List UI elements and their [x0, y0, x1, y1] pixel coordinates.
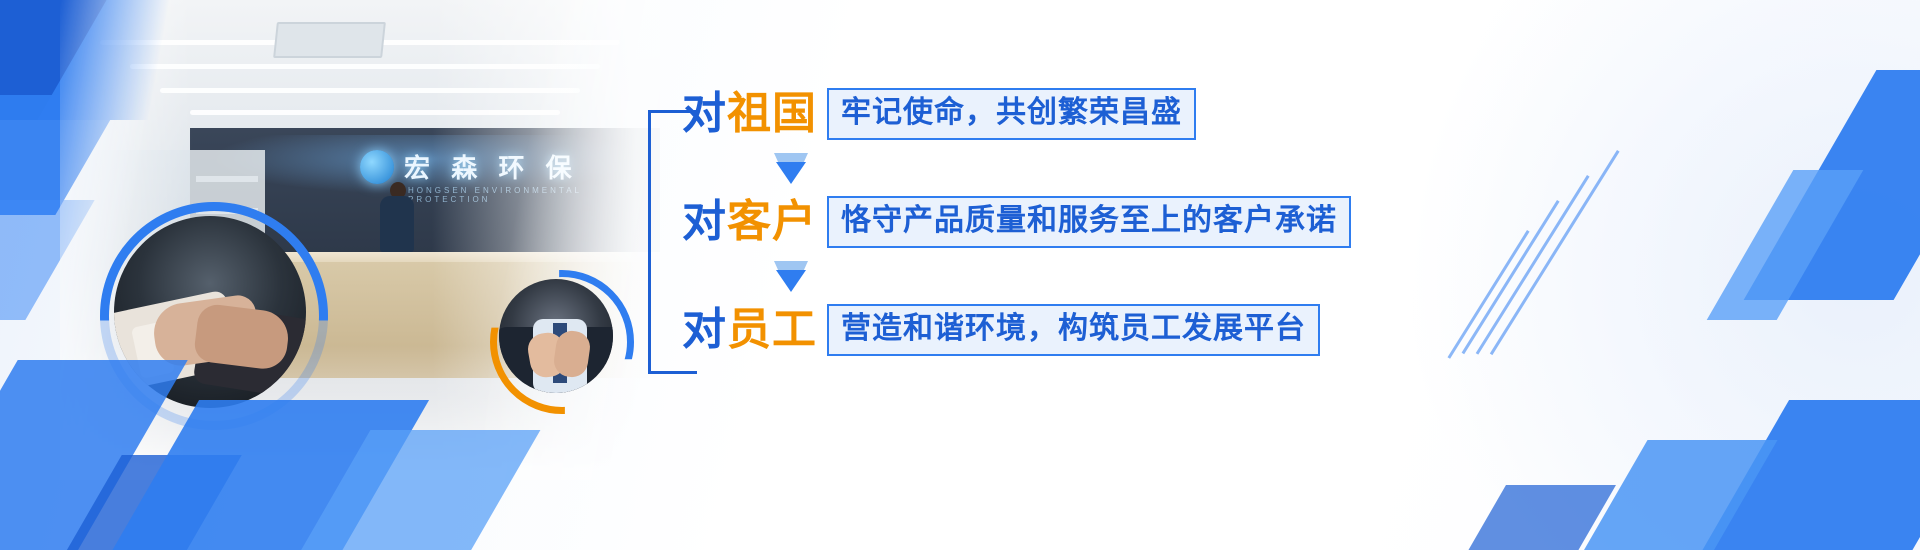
statement-row-customer: 对客户 恪守产品质量和服务至上的客户承诺 [682, 194, 1351, 250]
row-label-country: 对祖国 [682, 92, 817, 136]
row-prefix-customer: 对 [682, 197, 727, 246]
row-prefix-employee: 对 [682, 305, 727, 354]
arrow-cap-2 [774, 261, 808, 270]
culture-statement-group: 对祖国 牢记使命，共创繁荣昌盛 对客户 恪守产品质量和服务至上的客户承诺 [648, 86, 1348, 386]
row-prefix-country: 对 [682, 89, 727, 138]
statement-box-customer: 恪守产品质量和服务至上的客户承诺 [827, 196, 1351, 248]
arrow-triangle-2 [776, 270, 806, 292]
row-label-employee: 对员工 [682, 308, 817, 352]
row-subject-employee: 员工 [727, 305, 817, 354]
arrow-wrap-1 [682, 142, 1351, 194]
arrow-wrap-2 [682, 250, 1351, 302]
clasped-hands-photo [499, 279, 613, 393]
statement-row-country: 对祖国 牢记使命，共创繁荣昌盛 [682, 86, 1351, 142]
statement-box-country: 牢记使命，共创繁荣昌盛 [827, 88, 1196, 140]
company-culture-banner: 宏 森 环 保 HONGSEN ENVIRONMENTAL PROTECTION [0, 0, 1920, 550]
statement-rows: 对祖国 牢记使命，共创繁荣昌盛 对客户 恪守产品质量和服务至上的客户承诺 [682, 86, 1351, 358]
row-subject-country: 祖国 [727, 89, 817, 138]
chevron-down-icon-1 [774, 153, 808, 183]
statement-box-employee: 营造和谐环境，构筑员工发展平台 [827, 304, 1320, 356]
statement-row-employee: 对员工 营造和谐环境，构筑员工发展平台 [682, 302, 1351, 358]
arrow-cap-1 [774, 153, 808, 162]
row-label-customer: 对客户 [682, 200, 817, 244]
arrow-triangle-1 [776, 162, 806, 184]
handshake-hand-right [193, 303, 291, 372]
row-subject-customer: 客户 [727, 197, 817, 246]
chevron-down-icon-2 [774, 261, 808, 291]
